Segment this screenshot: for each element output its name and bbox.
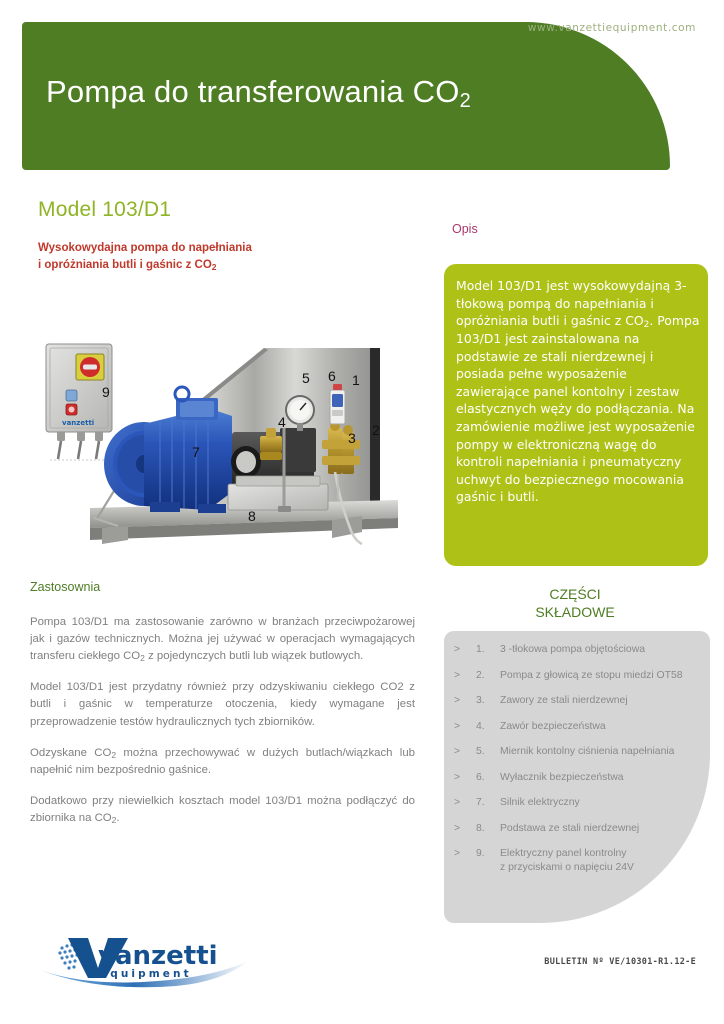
photo-callout-4: 4 xyxy=(278,414,286,430)
photo-callout-8: 8 xyxy=(248,508,256,524)
zas-p4-before: Dodatkowo przy niewielkich kosztach mode… xyxy=(30,795,415,824)
opis-text: Model 103/D1 jest wysokowydajną 3-tłokow… xyxy=(456,277,700,506)
part-number: 4. xyxy=(476,720,500,734)
model-subtitle-line2: i opróżniania butli i gaśnic z CO xyxy=(38,259,212,271)
model-title: Model 103/D1 xyxy=(38,198,171,222)
part-label: Elektryczny panel kontrolny z przyciskam… xyxy=(500,847,710,875)
part-label: Pompa z głowicą ze stopu miedzi OT58 xyxy=(500,669,710,683)
safety-switch xyxy=(330,384,345,424)
part-list-item: > 2. Pompa z głowicą ze stopu miedzi OT5… xyxy=(454,669,710,683)
zastosownia-paragraph-3: Odzyskane CO2 można przechowywać w dużyc… xyxy=(30,745,415,779)
page-header: www.vanzettiequipment.com Pompa do trans… xyxy=(0,0,724,180)
part-list-item: > 9. Elektryczny panel kontrolny z przyc… xyxy=(454,847,710,875)
zas-p4-after: . xyxy=(116,812,119,824)
part-number: 8. xyxy=(476,822,500,836)
zas-p3-sub: 2 xyxy=(111,750,116,760)
part-label: Zawór bezpieczeństwa xyxy=(500,720,710,734)
zas-p2-before: Model 103/D1 jest przydatny również przy… xyxy=(30,681,415,727)
chevron-right-icon: > xyxy=(454,771,476,785)
vanzetti-logo-svg: vanzetti equipment xyxy=(36,930,256,992)
zastosownia-title: Zastosownia xyxy=(30,580,100,594)
part-label: 3 -tłokowa pompa objętościowa xyxy=(500,643,710,657)
part-number: 7. xyxy=(476,796,500,810)
parts-heading-line1: CZĘŚCI xyxy=(549,586,600,602)
vanzetti-logo: vanzetti equipment xyxy=(36,930,256,992)
opis-label: Opis xyxy=(452,222,478,236)
page-title: Pompa do transferowania CO2 xyxy=(46,74,471,110)
zastosownia-body: Pompa 103/D1 ma zastosowanie zarówno w b… xyxy=(30,614,415,827)
part-list-item: > 8. Podstawa ze stali nierdzewnej xyxy=(454,822,710,836)
photo-callout-6: 6 xyxy=(328,368,336,384)
chevron-right-icon: > xyxy=(454,745,476,759)
svg-text:equipment: equipment xyxy=(100,968,192,980)
part-number: 9. xyxy=(476,847,500,861)
photo-callout-5: 5 xyxy=(302,370,310,386)
part-number: 3. xyxy=(476,694,500,708)
part-number: 5. xyxy=(476,745,500,759)
svg-text:vanzetti: vanzetti xyxy=(62,419,94,427)
part-list-item: > 1. 3 -tłokowa pompa objętościowa xyxy=(454,643,710,657)
chevron-right-icon: > xyxy=(454,796,476,810)
chevron-right-icon: > xyxy=(454,669,476,683)
zastosownia-paragraph-2: Model 103/D1 jest przydatny również przy… xyxy=(30,679,415,730)
parts-box: > 1. 3 -tłokowa pompa objętościowa > 2. … xyxy=(444,631,710,923)
part-label: Podstawa ze stali nierdzewnej xyxy=(500,822,710,836)
model-subtitle: Wysokowydajna pompa do napełniania i opr… xyxy=(38,240,368,273)
photo-callout-9: 9 xyxy=(102,384,110,400)
part-list-item: > 3. Zawory ze stali nierdzewnej xyxy=(454,694,710,708)
part-number: 2. xyxy=(476,669,500,683)
zastosownia-paragraph-4: Dodatkowo przy niewielkich kosztach mode… xyxy=(30,793,415,827)
opis-text-part2: . Pompa 103/D1 jest zainstalowana na pod… xyxy=(456,313,699,504)
product-photo-illustration: vanzetti xyxy=(32,332,424,570)
zas-p4-sub: 2 xyxy=(112,815,117,825)
chevron-right-icon: > xyxy=(454,694,476,708)
part-list-item: > 7. Silnik elektryczny xyxy=(454,796,710,810)
zas-p1-sub: 2 xyxy=(140,653,145,663)
model-subtitle-subscript: 2 xyxy=(212,262,217,272)
part-label: Zawory ze stali nierdzewnej xyxy=(500,694,710,708)
page-title-text: Pompa do transferowania CO xyxy=(46,74,460,109)
opis-box: Model 103/D1 jest wysokowydajną 3-tłokow… xyxy=(444,264,708,566)
parts-list: > 1. 3 -tłokowa pompa objętościowa > 2. … xyxy=(454,643,710,887)
bulletin-number: BULLETIN Nº VE/10301-R1.12-E xyxy=(544,957,696,967)
part-number: 6. xyxy=(476,771,500,785)
page-title-subscript: 2 xyxy=(460,90,471,112)
parts-heading-line2: SKŁADOWE xyxy=(535,604,614,620)
part-list-item: > 6. Wyłacznik bezpieczeństwa xyxy=(454,771,710,785)
part-number: 1. xyxy=(476,643,500,657)
zastosownia-paragraph-1: Pompa 103/D1 ma zastosowanie zarówno w b… xyxy=(30,614,415,665)
svg-text:vanzetti: vanzetti xyxy=(98,941,218,971)
parts-heading: CZĘŚCI SKŁADOWE xyxy=(430,585,720,622)
photo-callout-1: 1 xyxy=(352,372,360,388)
chevron-right-icon: > xyxy=(454,720,476,734)
part-label: Miernik kontolny ciśnienia napełniania xyxy=(500,745,710,759)
chevron-right-icon: > xyxy=(454,822,476,836)
photo-callout-7: 7 xyxy=(192,444,200,460)
opis-text-subscript: 2 xyxy=(644,320,650,330)
photo-callout-3: 3 xyxy=(348,430,356,446)
part-label: Wyłacznik bezpieczeństwa xyxy=(500,771,710,785)
chevron-right-icon: > xyxy=(454,847,476,861)
part-label: Silnik elektryczny xyxy=(500,796,710,810)
photo-callout-2: 2 xyxy=(372,422,380,438)
part-list-item: > 5. Miernik kontolny ciśnienia napełnia… xyxy=(454,745,710,759)
model-subtitle-line1: Wysokowydajna pompa do napełniania xyxy=(38,242,252,254)
product-photo: vanzetti xyxy=(32,332,424,570)
chevron-right-icon: > xyxy=(454,643,476,657)
zas-p1-after: z pojedynczych butli lub wiązek butlowyc… xyxy=(145,650,363,662)
part-list-item: > 4. Zawór bezpieczeństwa xyxy=(454,720,710,734)
website-url: www.vanzettiequipment.com xyxy=(528,22,696,34)
zas-p3-before: Odzyskane CO xyxy=(30,747,111,759)
